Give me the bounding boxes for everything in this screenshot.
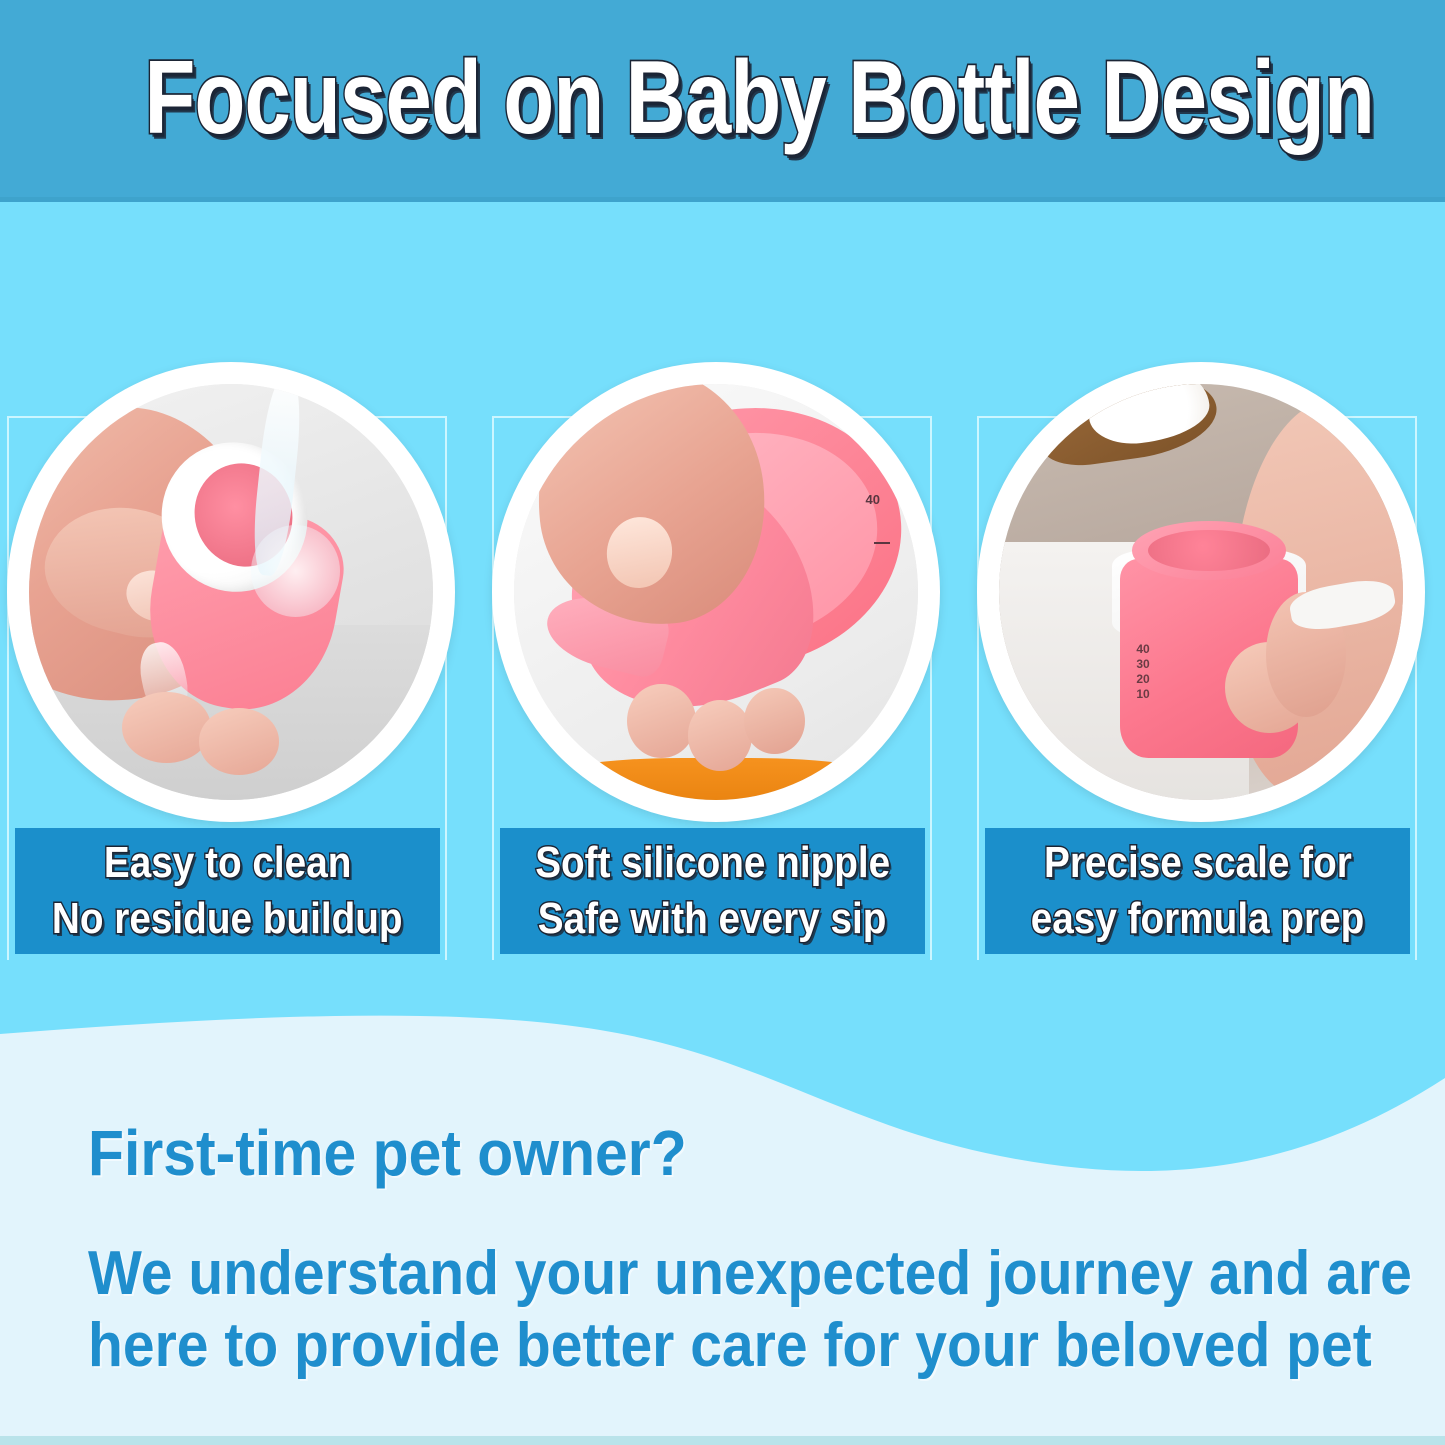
feature-image-precise-scale: 40 30 20 10: [977, 362, 1425, 822]
lower-heading: First-time pet owner?: [88, 1118, 687, 1188]
feature-caption-easy-to-clean: Easy to clean No residue buildup: [15, 828, 440, 954]
bottom-edge-band: [0, 1436, 1445, 1445]
feature-image-inner: [29, 384, 433, 800]
feature-panel-easy-to-clean: Easy to clean No residue buildup: [7, 366, 447, 966]
feature-caption-soft-silicone-nipple: Soft silicone nipple Safe with every sip: [500, 828, 925, 954]
caption-line-2: No residue buildup: [52, 891, 403, 947]
caption-line-2: Safe with every sip: [538, 891, 887, 947]
caption-line-2: easy formula prep: [1031, 891, 1365, 947]
product-infographic: Focused on Baby Bottle Design: [0, 0, 1445, 1445]
feature-panel-soft-silicone-nipple: 40 Soft silicone nipple Safe with every …: [492, 366, 932, 966]
feature-image-inner: 40: [514, 384, 918, 800]
caption-line-1: Soft silicone nipple: [535, 835, 890, 891]
caption-line-1: Precise scale for: [1044, 835, 1352, 891]
feature-image-soft-silicone-nipple: 40: [492, 362, 940, 822]
page-title: Focused on Baby Bottle Design: [145, 46, 1301, 150]
lower-body-line-1: We understand your unexpected journey an…: [88, 1238, 1412, 1310]
feature-image-inner: 40 30 20 10: [999, 384, 1403, 800]
feature-image-easy-to-clean: [7, 362, 455, 822]
caption-line-1: Easy to clean: [104, 835, 352, 891]
feature-caption-precise-scale: Precise scale for easy formula prep: [985, 828, 1410, 954]
lower-body-line-2: here to provide better care for your bel…: [88, 1310, 1412, 1382]
scene-squeezing-nipple: 40: [514, 384, 918, 800]
scale-mark-40: 40: [1136, 642, 1149, 657]
scale-mark-20: 20: [1136, 672, 1149, 687]
bottle-scale-marks: 40 30 20 10: [1136, 642, 1149, 702]
scale-mark-10: 10: [1136, 687, 1149, 702]
scene-rinsing-bottle: [29, 384, 433, 800]
scene-formula-scoop: 40 30 20 10: [999, 384, 1403, 800]
feature-panel-precise-scale: 40 30 20 10 Precise scale for easy formu…: [977, 366, 1417, 966]
nipple-scale-mark: 40: [866, 492, 894, 567]
lower-body-text: We understand your unexpected journey an…: [88, 1238, 1412, 1382]
scale-mark-30: 30: [1136, 657, 1149, 672]
